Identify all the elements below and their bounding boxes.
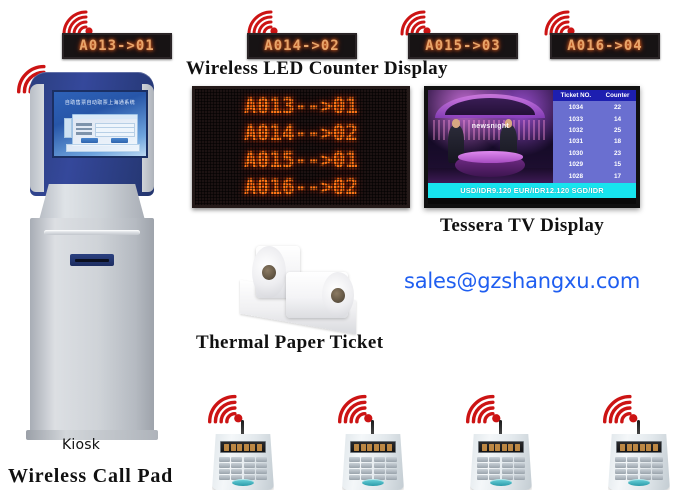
counter-display-1-text: A013->01 — [79, 38, 154, 54]
kiosk-form-label — [76, 132, 92, 135]
led-panel-row: A013-->01 — [197, 93, 405, 120]
cell-ticket-no: 1029 — [553, 160, 599, 169]
table-row: 1029 15 — [553, 160, 636, 169]
product-collage: A013->01 A014->02 A015->03 A016->04 Wire… — [0, 0, 700, 500]
cell-counter: 17 — [599, 172, 636, 181]
cell-ticket-no: 1028 — [553, 172, 599, 181]
call-pad-1[interactable] — [212, 432, 274, 492]
cell-counter: 25 — [599, 126, 636, 135]
antenna-icon — [499, 420, 502, 436]
kiosk-form-header-bar — [73, 115, 137, 119]
call-pad-lcd-screen — [478, 441, 524, 453]
call-pad-4[interactable] — [608, 432, 670, 492]
counter-display-3-text: A015->03 — [425, 38, 500, 54]
table-row: 1031 18 — [553, 137, 636, 146]
caption-kiosk: Kiosk — [62, 437, 100, 453]
call-pad-keypad[interactable] — [219, 457, 267, 480]
cell-counter: 14 — [599, 115, 636, 124]
wifi-signal-icon — [205, 392, 251, 424]
tv-exchange-rate-ticker: USD/IDR9.120 EUR/IDR12.120 SGD/IDR — [428, 183, 636, 198]
kiosk-screen-title: 自助售票自动取票上海通系统 — [54, 99, 146, 106]
cell-ticket-no: 1031 — [553, 137, 599, 146]
paper-roll-front — [286, 272, 348, 318]
thermal-paper-rolls — [238, 238, 368, 334]
wifi-signal-icon — [245, 8, 285, 36]
cell-ticket-no: 1030 — [553, 149, 599, 158]
counter-display-2[interactable]: A014->02 — [247, 33, 357, 59]
call-pad-keypad[interactable] — [349, 457, 397, 480]
kiosk-screen-side-tab[interactable] — [64, 118, 72, 138]
tv-ticker-text: USD/IDR9.120 EUR/IDR12.120 SGD/IDR — [460, 186, 604, 195]
call-pad-call-button[interactable] — [628, 479, 650, 486]
tv-channel-logo: newsnight — [472, 123, 509, 130]
table-row: 1030 23 — [553, 149, 636, 158]
call-pad-3[interactable] — [470, 432, 532, 492]
tv-queue-table-header: Ticket NO. Counter — [553, 90, 636, 101]
column-header-ticket-no: Ticket NO. — [553, 90, 599, 101]
tessera-tv-display[interactable]: newsnight Ticket NO. Counter 1034 22 103… — [424, 86, 640, 208]
call-pad-call-button[interactable] — [362, 479, 384, 486]
table-row: 1034 22 — [553, 103, 636, 112]
caption-thermal-paper-ticket: Thermal Paper Ticket — [196, 332, 383, 354]
kiosk-handle-groove — [44, 230, 140, 235]
column-header-counter: Counter — [599, 90, 636, 101]
call-pad-lcd-screen — [220, 441, 266, 453]
call-pad-2[interactable] — [342, 432, 404, 492]
tv-video-feed: newsnight — [428, 90, 553, 183]
kiosk-touchscreen[interactable]: 自助售票自动取票上海通系统 — [52, 90, 148, 158]
counter-display-4[interactable]: A016->04 — [550, 33, 660, 59]
cell-ticket-no: 1034 — [553, 103, 599, 112]
cell-counter: 18 — [599, 137, 636, 146]
kiosk-head-left-bezel — [30, 84, 44, 192]
kiosk-screen-footer-note — [66, 144, 140, 152]
antenna-icon — [241, 420, 244, 436]
kiosk-body — [30, 218, 154, 440]
counter-display-4-text: A016->04 — [567, 38, 642, 54]
call-pad-call-button[interactable] — [232, 479, 254, 486]
kiosk-reset-button[interactable] — [111, 138, 128, 143]
caption-wireless-led-counter-display: Wireless LED Counter Display — [186, 58, 448, 80]
caption-tessera-tv-display: Tessera TV Display — [440, 215, 604, 237]
table-row: 1028 17 — [553, 172, 636, 181]
kiosk-confirm-button[interactable] — [81, 138, 98, 143]
counter-display-3[interactable]: A015->03 — [408, 33, 518, 59]
kiosk-form-label — [76, 123, 92, 126]
tv-bottom-bezel — [428, 198, 636, 204]
large-led-display-panel[interactable]: A013-->01 A014-->02 A015-->01 A016-->02 — [192, 86, 410, 208]
kiosk-head: 自助售票自动取票上海通系统 — [30, 72, 154, 196]
kiosk-screen-form[interactable] — [72, 114, 138, 146]
antenna-icon — [371, 420, 374, 436]
sales-email-address[interactable]: sales@gzshangxu.com — [404, 269, 640, 293]
wifi-signal-icon — [463, 392, 509, 424]
wifi-signal-icon — [335, 392, 381, 424]
led-panel-row: A014-->02 — [197, 120, 405, 147]
call-pad-call-button[interactable] — [490, 479, 512, 486]
led-panel-row: A015-->01 — [197, 147, 405, 174]
wifi-signal-icon — [542, 8, 582, 36]
antenna-icon — [637, 420, 640, 436]
led-panel-row: A016-->02 — [197, 174, 405, 201]
cell-counter: 23 — [599, 149, 636, 158]
wifi-signal-icon — [398, 8, 438, 36]
counter-display-2-text: A014->02 — [264, 38, 339, 54]
cell-counter: 22 — [599, 103, 636, 112]
caption-wireless-call-pad: Wireless Call Pad — [8, 465, 173, 488]
kiosk-ticket-slot[interactable] — [70, 254, 114, 266]
kiosk-device[interactable]: 自助售票自动取票上海通系统 — [22, 72, 162, 440]
cell-ticket-no: 1033 — [553, 115, 599, 124]
wifi-signal-icon — [60, 8, 100, 36]
call-pad-lcd-screen — [350, 441, 396, 453]
call-pad-keypad[interactable] — [615, 457, 663, 480]
table-row: 1033 14 — [553, 115, 636, 124]
call-pad-lcd-screen — [616, 441, 662, 453]
tv-queue-table: Ticket NO. Counter 1034 22 1033 14 — [553, 90, 636, 183]
kiosk-form-label — [76, 128, 92, 131]
cell-ticket-no: 1032 — [553, 126, 599, 135]
counter-display-1[interactable]: A013->01 — [62, 33, 172, 59]
kiosk-form-input[interactable] — [95, 132, 135, 138]
cell-counter: 15 — [599, 160, 636, 169]
call-pad-keypad[interactable] — [477, 457, 525, 480]
table-row: 1032 25 — [553, 126, 636, 135]
